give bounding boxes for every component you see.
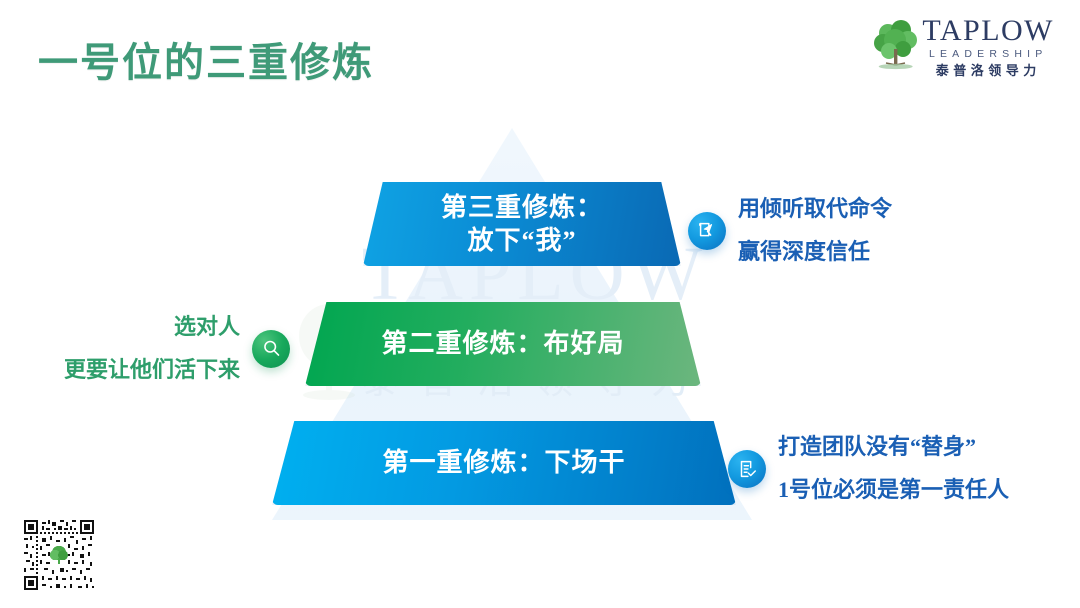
annotation-top-right-line1: 用倾听取代命令 [738,188,892,231]
tier-3-line2: 放下“我” [441,224,603,257]
annotation-bottom-right-text: 打造团队没有“替身” 1号位必须是第一责任人 [778,426,1009,512]
annotation-top-right-text: 用倾听取代命令 赢得深度信任 [738,188,892,274]
tier-2-label: 第二重修炼：布好局 [381,327,624,360]
pyramid-tier-2[interactable]: 第二重修炼：布好局 [305,302,701,386]
document-check-icon[interactable] [728,450,766,488]
search-icon[interactable] [252,330,290,368]
annotation-top-right: 用倾听取代命令 赢得深度信任 [688,188,892,274]
annotation-bottom-right: 打造团队没有“替身” 1号位必须是第一责任人 [728,426,1009,512]
tier-1-label: 第一重修炼：下场干 [382,446,625,479]
qr-code[interactable] [22,518,96,592]
annotation-middle-left-text: 选对人 更要让他们活下来 [64,306,240,392]
tier-3-line1: 第三重修炼： [441,191,603,224]
tree-icon [874,19,918,71]
tier-3-label: 第三重修炼： 放下“我” [441,191,603,258]
annotation-bottom-right-line2: 1号位必须是第一责任人 [778,469,1009,512]
qr-code-icon [22,518,96,592]
page-title: 一号位的三重修炼 [38,30,374,88]
annotation-middle-left-line1: 选对人 [64,306,240,349]
logo-chinese: 泰普洛领导力 [922,64,1054,77]
annotation-middle-left-line2: 更要让他们活下来 [64,349,240,392]
slide-canvas: TAPLOW LEADERSHIP 泰普洛领导力 一号位的三重修炼 [0,0,1080,608]
pyramid-tier-3[interactable]: 第三重修炼： 放下“我” [363,182,681,266]
brand-logo: TAPLOW LEADERSHIP 泰普洛领导力 [874,14,1054,77]
annotation-bottom-right-line1: 打造团队没有“替身” [778,426,1009,469]
annotation-top-right-line2: 赢得深度信任 [738,231,892,274]
document-cursor-icon[interactable] [688,212,726,250]
annotation-middle-left: 选对人 更要让他们活下来 [8,306,290,392]
logo-tagline: LEADERSHIP [922,49,1054,60]
pyramid-tier-1[interactable]: 第一重修炼：下场干 [272,421,736,505]
logo-text-block: TAPLOW LEADERSHIP 泰普洛领导力 [922,14,1054,77]
logo-name: TAPLOW [922,16,1054,46]
